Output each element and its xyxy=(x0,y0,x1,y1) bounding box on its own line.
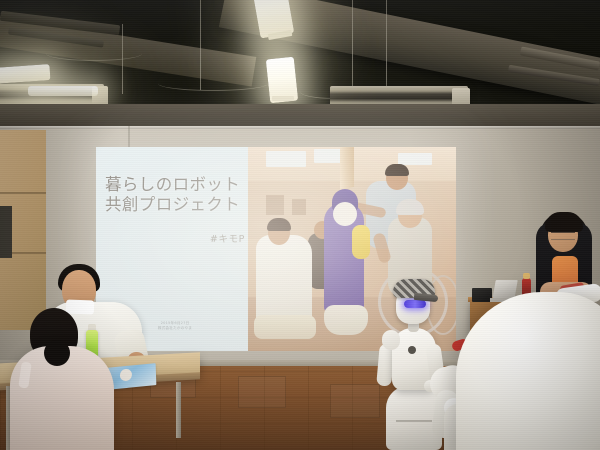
glasses xyxy=(551,232,575,240)
photo-skylight-3 xyxy=(398,153,432,165)
slide-title-line2: 共創プロジェクト xyxy=(105,195,245,215)
pepper-robot-front-eye-led xyxy=(404,300,426,308)
fluorescent-tube-left xyxy=(0,64,50,84)
wall-ceiling-seam xyxy=(0,126,600,129)
hanger-rod-2 xyxy=(352,0,353,86)
man-seated-left-collar xyxy=(66,300,94,315)
photo-skylight-1 xyxy=(266,151,306,167)
red-bottle-cap xyxy=(523,273,530,279)
photo-kneeling-man-hair xyxy=(267,218,291,231)
slide-title-line1: 暮らしのロボット xyxy=(105,175,245,195)
ceiling xyxy=(0,0,600,132)
pepper-robot-front-base-seam xyxy=(396,420,432,422)
ceiling-cable-2 xyxy=(158,76,268,91)
fluorescent-tube-left-2 xyxy=(28,86,98,96)
pepper-robot-front-chest-sensor xyxy=(408,346,416,354)
photo-elderly-hair xyxy=(396,199,424,215)
photo-caregiver-hair xyxy=(385,164,409,176)
photo-robot-legs xyxy=(324,305,368,335)
av-equipment xyxy=(472,288,492,302)
photo-robot-yellow-accent xyxy=(352,225,370,259)
woman-standing-right-fringe xyxy=(545,212,583,232)
photo-scene: 暮らしのロボット 共創プロジェクト #キモP 2015年6月27日 株式会社たか… xyxy=(0,0,600,450)
slide-hashtag: #キモP xyxy=(105,231,245,245)
photo-wall-frame-1 xyxy=(266,195,284,215)
hanger-rod-3 xyxy=(386,0,387,96)
ceiling-cable-1 xyxy=(46,46,142,61)
brochure-figure xyxy=(120,368,132,381)
photo-wall-frame-2 xyxy=(292,199,306,215)
cardboard-boxes xyxy=(0,130,46,330)
pepper-robot-front-shoulder xyxy=(382,330,400,350)
slide-title: 暮らしのロボット 共創プロジェクト xyxy=(105,175,245,215)
photo-robot-face xyxy=(333,202,357,226)
woman-foreground-left-bun xyxy=(44,340,70,366)
photo-kneeling-man-legs xyxy=(254,315,316,339)
table-leg-right xyxy=(176,382,181,438)
fluorescent-tube-middle-cap xyxy=(272,96,294,101)
